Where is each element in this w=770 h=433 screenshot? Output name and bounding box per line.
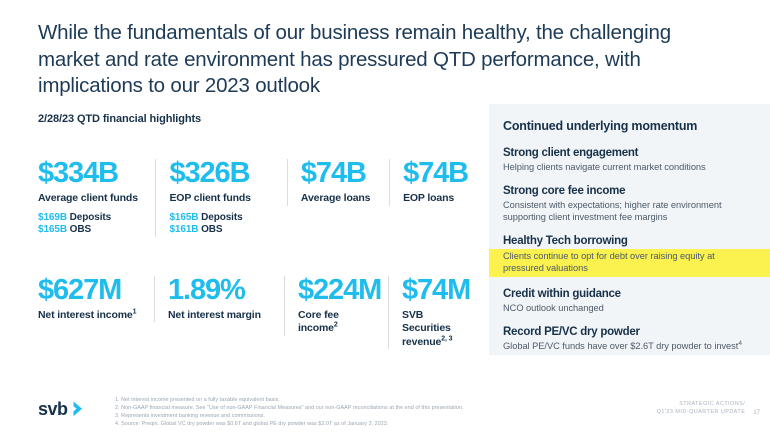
sub-amount: $165B <box>169 212 198 223</box>
metric-net-interest-margin: 1.89% Net interest margin <box>154 274 284 323</box>
panel-item-body: Global PE/VC funds have over $2.6T dry p… <box>503 340 756 352</box>
deck-title-line2: Q1'23 MID-QUARTER UPDATE <box>657 408 746 416</box>
metric-core-fee-income: $224M Core fee income2 <box>284 274 388 336</box>
page-title: While the fundamentals of our business r… <box>38 20 698 100</box>
metric-value: $74M <box>402 274 468 306</box>
panel-item-healthy-tech-borrowing: Healthy Tech borrowing Clients continue … <box>489 234 770 277</box>
sub-amount: $161B <box>169 224 198 235</box>
panel-item-body-text: Helping clients navigate current market … <box>503 162 706 172</box>
metric-value: $74B <box>301 157 379 189</box>
panel-item-credit-within-guidance: Credit within guidance NCO outlook uncha… <box>489 287 770 314</box>
momentum-panel: Continued underlying momentum Strong cli… <box>489 104 770 355</box>
panel-item-body: Helping clients navigate current market … <box>503 161 756 173</box>
sub-text: OBS <box>201 224 222 235</box>
metric-value: $334B <box>38 157 145 189</box>
footnote-marker: 2 <box>334 322 338 329</box>
sub-amount: $169B <box>38 212 67 223</box>
panel-item-heading: Record PE/VC dry powder <box>503 325 756 339</box>
panel-item-heading: Strong core fee income <box>503 184 756 198</box>
sub-text: Deposits <box>201 212 242 223</box>
metric-label-text: Net interest margin <box>168 309 261 321</box>
metric-value: $224M <box>298 274 378 306</box>
metric-eop-loans: $74B EOP loans <box>389 157 478 206</box>
metric-label: EOP client funds <box>169 192 276 206</box>
panel-title: Continued underlying momentum <box>489 119 770 133</box>
panel-item-strong-client-engagement: Strong client engagement Helping clients… <box>489 146 770 173</box>
footnotes-block: 1. Net interest income presented on a fu… <box>115 396 615 428</box>
panel-item-body-highlighted: Clients continue to opt for debt over ra… <box>489 249 770 277</box>
footnote-4: 4. Source: Preqin. Global VC dry powder … <box>115 420 615 428</box>
page-number: 17 <box>753 410 760 416</box>
footnote-marker: 1 <box>133 308 137 315</box>
metric-row-2: $627M Net interest income1 1.89% Net int… <box>38 274 478 350</box>
panel-item-heading: Healthy Tech borrowing <box>489 234 770 248</box>
metric-label: EOP loans <box>403 192 468 206</box>
financial-highlights-section: 2/28/23 QTD financial highlights $334B A… <box>38 113 478 349</box>
metric-value: $627M <box>38 274 144 306</box>
panel-item-heading: Credit within guidance <box>503 287 756 301</box>
svb-logo-wordmark: svb <box>38 399 68 419</box>
metric-value: 1.89% <box>168 274 274 306</box>
metric-average-client-funds: $334B Average client funds $169B Deposit… <box>38 157 155 237</box>
metric-label: Net interest margin <box>168 309 274 323</box>
deck-title-line1: STRATEGIC ACTIONS/ <box>657 400 746 408</box>
metric-average-loans: $74B Average loans <box>287 157 389 206</box>
panel-item-body-text: Clients continue to opt for debt over ra… <box>503 251 715 273</box>
panel-item-record-pe-vc-dry-powder: Record PE/VC dry powder Global PE/VC fun… <box>489 325 770 352</box>
panel-item-body-text: NCO outlook unchanged <box>503 303 604 313</box>
slide-root: While the fundamentals of our business r… <box>0 0 770 433</box>
footnote-2: 2. Non-GAAP financial measure. See “Use … <box>115 404 615 412</box>
metric-label: Average loans <box>301 192 379 206</box>
metric-row-1: $334B Average client funds $169B Deposit… <box>38 157 478 237</box>
metric-label: Net interest income1 <box>38 309 144 323</box>
metric-eop-client-funds: $326B EOP client funds $165B Deposits $1… <box>155 157 286 237</box>
metric-label: SVB Securities revenue2, 3 <box>402 309 468 350</box>
footnote-marker: 2, 3 <box>441 335 452 342</box>
sub-text: Deposits <box>70 212 111 223</box>
panel-item-body: NCO outlook unchanged <box>503 302 756 314</box>
svb-logo-icon: svb <box>38 398 94 420</box>
metric-value: $326B <box>169 157 276 189</box>
panel-item-body-text: Global PE/VC funds have over $2.6T dry p… <box>503 341 738 351</box>
footnote-3: 3. Represents investment banking revenue… <box>115 412 615 420</box>
metric-subdetail: $165B Deposits $161B OBS <box>169 212 276 237</box>
section-subheading: 2/28/23 QTD financial highlights <box>38 113 478 125</box>
panel-item-strong-core-fee-income: Strong core fee income Consistent with e… <box>489 184 770 223</box>
metric-subdetail: $169B Deposits $165B OBS <box>38 212 145 237</box>
footnote-marker: 4 <box>738 340 742 347</box>
metric-net-interest-income: $627M Net interest income1 <box>38 274 154 323</box>
chevron-right-icon <box>74 402 83 417</box>
deck-title: STRATEGIC ACTIONS/ Q1'23 MID-QUARTER UPD… <box>657 400 746 416</box>
metric-label: Average client funds <box>38 192 145 206</box>
footnote-1: 1. Net interest income presented on a fu… <box>115 396 615 404</box>
metric-label: Core fee income2 <box>298 309 378 336</box>
panel-item-body-text: Consistent with expectations; higher rat… <box>503 200 722 222</box>
panel-item-heading: Strong client engagement <box>503 146 756 160</box>
metric-svb-securities-revenue: $74M SVB Securities revenue2, 3 <box>388 274 478 350</box>
sub-text: OBS <box>70 224 91 235</box>
svb-logo: svb <box>38 398 94 420</box>
footer-deck-info: STRATEGIC ACTIONS/ Q1'23 MID-QUARTER UPD… <box>657 400 760 416</box>
metric-label-text: Core fee income <box>298 309 339 335</box>
sub-amount: $165B <box>38 224 67 235</box>
panel-item-body: Consistent with expectations; higher rat… <box>503 199 756 223</box>
metric-value: $74B <box>403 157 468 189</box>
metric-label-text: Net interest income <box>38 309 133 321</box>
